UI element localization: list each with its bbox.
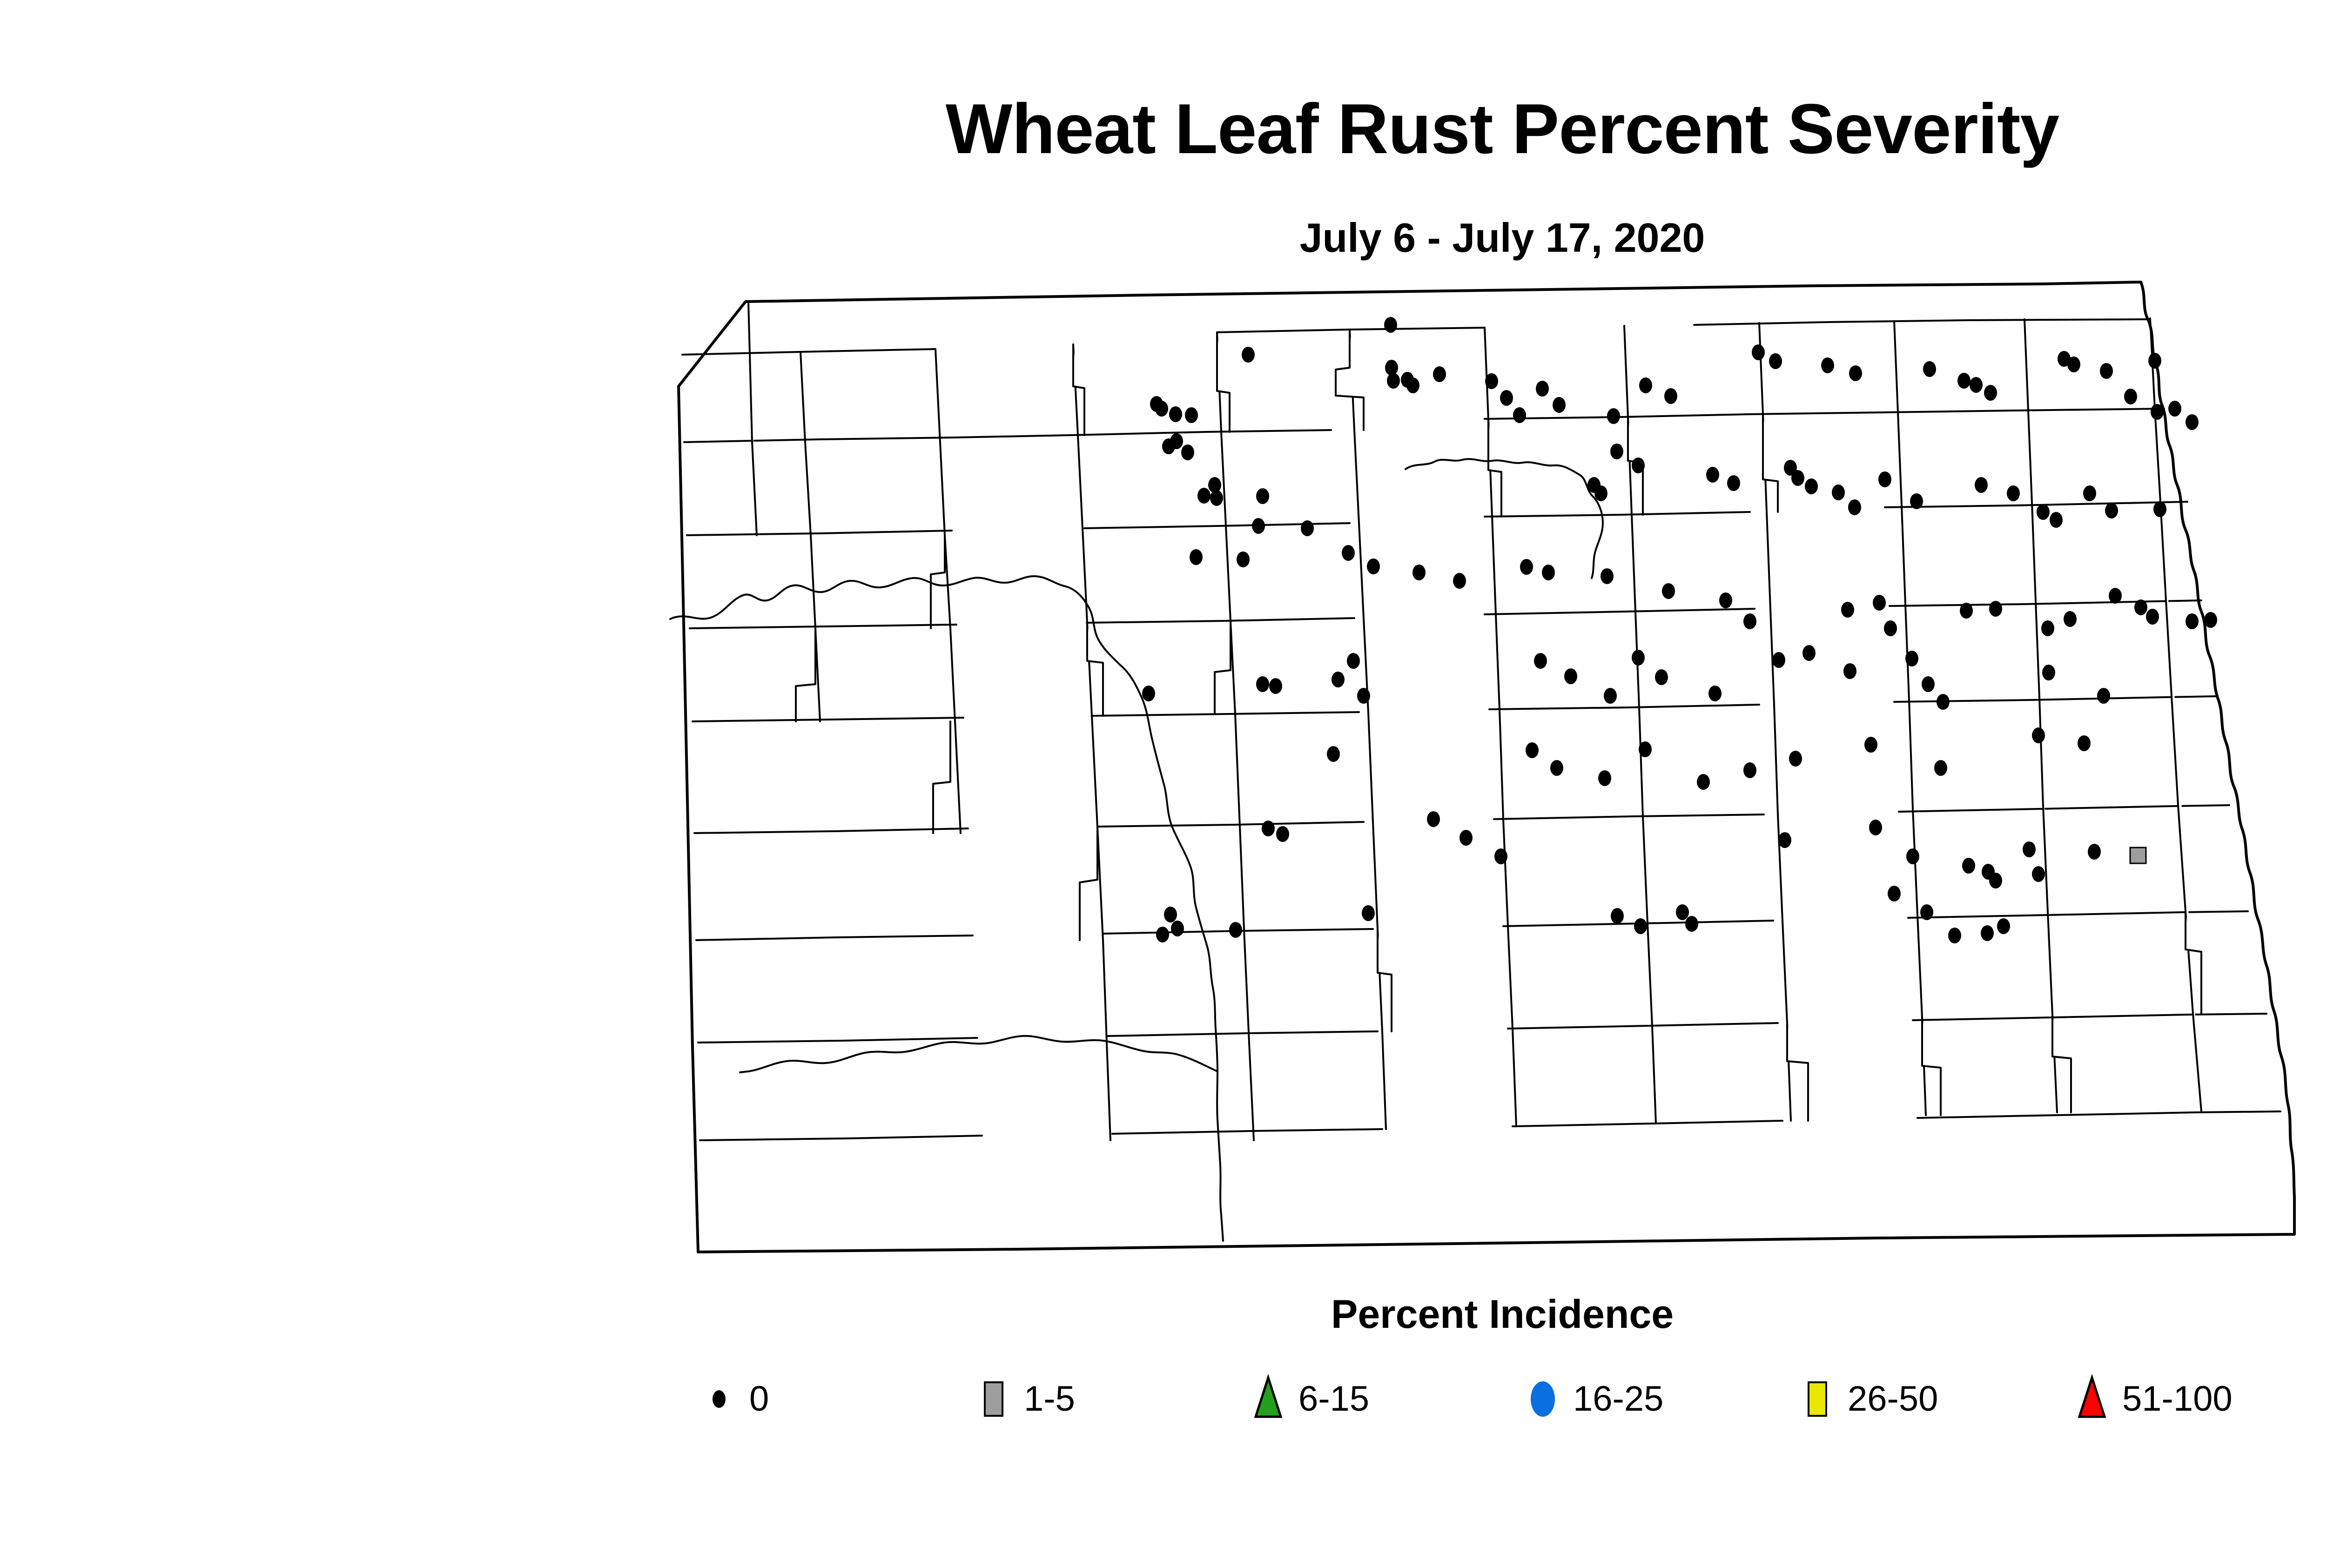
map-point [2153,501,2166,517]
map-point [1197,488,1211,504]
map-point [1884,620,1897,636]
map-svg [666,275,2322,1271]
map-point [2134,599,2147,615]
map-point [1252,518,1265,534]
map-point [1342,545,1355,561]
map-point [1821,357,1834,373]
map-point [1719,592,1732,608]
state-and-county-boundaries [670,282,2294,1252]
map-point [2088,844,2101,860]
legend-label: 1-5 [1024,1379,1075,1419]
map-point [1500,390,1513,406]
figure-root: Wheat Leaf Rust Percent Severity July 6 … [0,0,2327,1568]
map-point [1864,737,1877,753]
legend-triangle-icon [2066,1368,2118,1429]
map-point [1534,653,1547,669]
map-point [1269,678,1282,694]
map-point [1706,467,1719,483]
map-point [1743,613,1756,629]
map-point [1727,475,1740,491]
map-point [1553,397,1566,413]
map-point [1708,686,1722,701]
map-point [1607,408,1620,424]
map-point [1536,381,1549,397]
legend-item-16-25[interactable]: 16-25 [1517,1364,1663,1433]
map-point [2078,735,2091,751]
map-point [1922,676,1935,692]
map-point [1639,741,1652,757]
map-point [1237,552,1250,567]
map-point [1634,918,1647,934]
map-point [2204,612,2217,628]
map-point [1513,407,1526,423]
map-point [1878,471,1891,487]
map-point [1520,559,1533,575]
map-point [1242,347,1255,363]
legend-label: 26-50 [1848,1379,1938,1419]
map-point [1427,811,1440,827]
map-point [1849,365,1862,381]
legend-symbol-shape [985,1382,1002,1416]
map-point [1802,645,1816,661]
map-point [2050,512,2063,528]
legend-symbol-shape [2079,1378,2105,1417]
map-point [2097,688,2110,704]
map-point [1934,760,1947,776]
map-point [2100,363,2113,379]
map-point [1981,925,1994,941]
map-point [1676,904,1689,920]
map-point [1937,694,1950,710]
map-point [2186,414,2199,430]
map-point [1832,485,1845,500]
legend-item-1-5[interactable]: 1-5 [968,1364,1075,1433]
map-point [1601,568,1614,584]
map-point [1769,353,1782,369]
map-point [1406,377,1419,393]
map-point [1848,499,1861,515]
map-point [1752,344,1765,360]
map-point [1869,820,1882,835]
map-point [1598,770,1611,786]
map-point [2083,485,2096,501]
map-point [1494,848,1507,864]
map-point [1169,406,1182,422]
map-point [1805,478,1818,494]
legend-label: 16-25 [1573,1379,1663,1419]
map-point [1957,373,1971,389]
legend-circle-icon [1517,1368,1568,1429]
map-point [2032,727,2045,743]
map-point [1550,760,1563,776]
legend-label: 51-100 [2122,1379,2233,1419]
map-point [1989,873,2002,888]
map-point [1685,916,1698,932]
map-point [2067,357,2080,372]
map-point [1888,886,1901,902]
map-point [2124,389,2137,404]
map-point [1276,826,1289,842]
map-point [1433,366,1446,382]
legend-row: 01-56-1516-2526-5051-100 [693,1364,2322,1433]
map-point [1970,377,1983,393]
map-point [1332,672,1345,687]
legend-item-26-50[interactable]: 26-50 [1792,1364,1938,1433]
map-point [2041,620,2054,636]
map-point [1155,401,1168,417]
map-point [1171,921,1184,936]
map-point [2186,613,2199,629]
map-point [1997,918,2010,934]
map-point [1632,458,1645,473]
map-point [2146,609,2159,625]
map-point [1923,361,1936,377]
map-point [1387,373,1400,389]
map-point [2168,401,2181,417]
map-point [1905,651,1918,666]
map-point [2148,353,2161,369]
page-title: Wheat Leaf Rust Percent Severity [0,88,2327,170]
legend-item-51-100[interactable]: 51-100 [2066,1364,2233,1433]
legend-symbol-shape [1256,1378,1281,1417]
map-point [1778,832,1791,848]
map-point [1301,520,1314,536]
map-point [1262,821,1275,836]
map-point [1906,848,1919,864]
map-point [1357,688,1370,704]
legend-label: 6-15 [1298,1379,1369,1419]
map-point [1989,601,2002,617]
map-point [1611,908,1624,924]
map-point [1156,927,1169,942]
map-point [1526,742,1539,758]
legend-square-icon [968,1368,1019,1429]
legend-item-0[interactable]: 0 [693,1364,769,1433]
north-dakota-map[interactable] [666,275,2322,1271]
map-point [1256,676,1269,692]
map-point [1459,830,1473,846]
map-point [1610,444,1623,459]
map-point [1662,583,1675,599]
map-point [1843,663,1856,679]
map-point [1347,653,1360,669]
map-point [1412,565,1426,580]
map-point [1639,377,1652,393]
map-point [1384,317,1397,333]
map-point [1362,905,1375,921]
map-point [1791,470,1804,486]
legend-symbol-shape [1809,1382,1826,1416]
map-point [1960,603,1973,619]
legend-square-icon [1792,1368,1843,1429]
map-point [1920,904,1933,920]
legend-item-6-15[interactable]: 6-15 [1243,1364,1369,1433]
map-point [1841,602,1854,618]
map-point [1594,485,1607,501]
legend-triangle-icon [1243,1368,1294,1429]
map-point [1185,407,1198,423]
map-point [1564,668,1577,684]
legend-circle-small-icon [693,1368,745,1429]
state-outline [679,282,2294,1252]
legend-title: Percent Incidence [0,1292,2327,1338]
map-point [2105,503,2118,518]
map-point [1984,385,1997,401]
map-point [2130,848,2146,863]
map-point [1962,858,1975,874]
map-point [2042,665,2055,680]
map-point [2151,404,2164,420]
map-point [1367,559,1380,574]
page-subtitle: July 6 - July 17, 2020 [0,214,2327,262]
map-point [1743,762,1756,778]
map-point [2007,485,2020,501]
map-point [2023,841,2036,857]
map-point [1655,669,1668,685]
map-point [1910,493,1923,509]
map-point [1948,928,1961,943]
map-point [1181,444,1194,460]
map-point [1604,688,1617,704]
map-point [2064,611,2077,627]
legend-label: 0 [749,1379,769,1419]
map-point [1190,549,1203,565]
map-point [1229,922,1242,938]
map-point [1164,907,1177,922]
map-point [1975,477,1988,493]
map-point [1873,595,1886,611]
map-point [1485,373,1498,389]
legend-symbol-shape [1531,1381,1555,1417]
map-point [1632,650,1645,666]
map-point [1542,565,1555,580]
map-point [1664,388,1677,404]
map-point [1772,652,1785,668]
map-point [2037,504,2050,520]
map-point [1142,686,1155,701]
map-point [1453,573,1466,589]
legend-symbol-shape [713,1390,726,1408]
map-point [2032,866,2045,882]
map-point [1327,746,1340,762]
map-point [2109,588,2122,604]
map-point [1256,488,1269,504]
map-point [1210,490,1223,506]
map-point [1789,751,1802,767]
map-point [1162,438,1175,454]
map-point [1697,774,1710,790]
